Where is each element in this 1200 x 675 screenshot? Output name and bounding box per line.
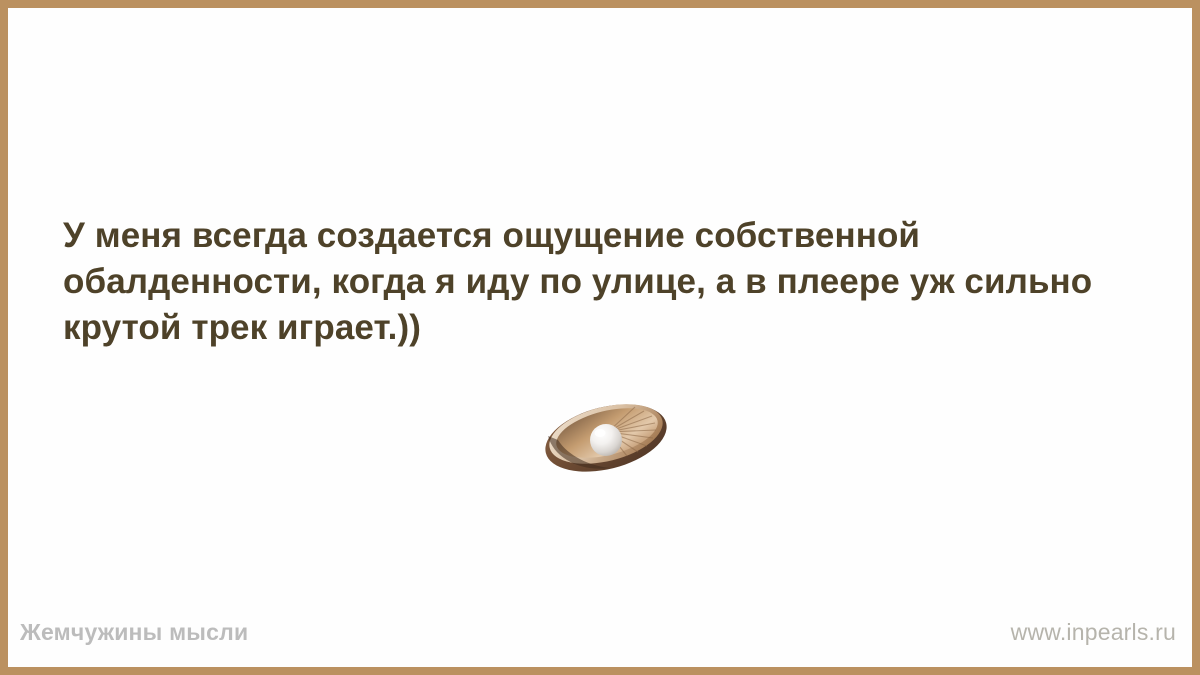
site-name: Жемчужины мысли — [20, 619, 248, 646]
quote-card: У меня всегда создается ощущение собстве… — [0, 0, 1200, 675]
quote-text: У меня всегда создается ощущение собстве… — [63, 213, 1153, 351]
oyster-shell-with-pearl-icon — [540, 396, 676, 474]
site-url-link[interactable]: www.inpearls.ru — [1011, 619, 1176, 646]
pearl — [590, 424, 622, 456]
pearl-highlight — [595, 429, 606, 437]
